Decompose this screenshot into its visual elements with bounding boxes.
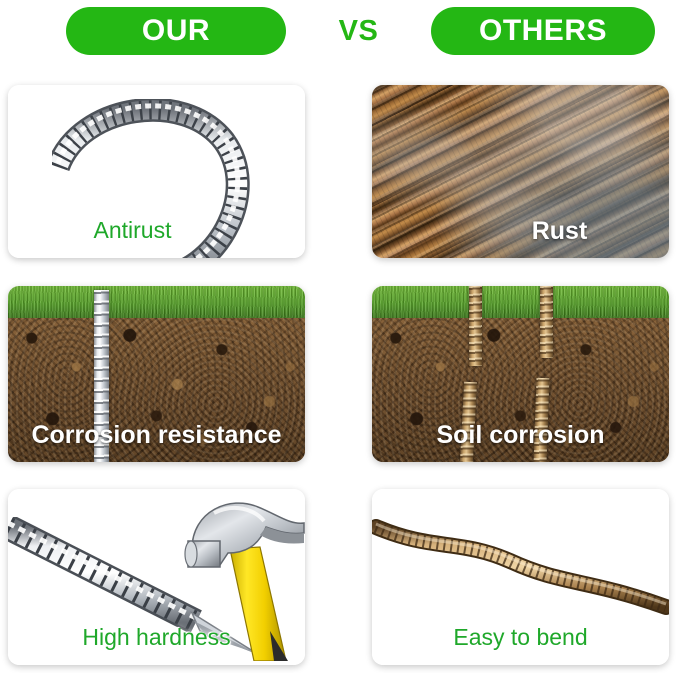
scene-easy-to-bend: Easy to bend: [372, 489, 669, 665]
caption-corrosion-resistance: Corrosion resistance: [8, 421, 305, 450]
caption-soil-corrosion: Soil corrosion: [372, 421, 669, 450]
comparison-header: OUR VS OTHERS: [0, 0, 679, 62]
card-our-corrosion-resistance: Corrosion resistance: [8, 286, 305, 462]
vs-label: VS: [286, 15, 431, 48]
caption-rust: Rust: [450, 217, 669, 246]
card-others-easy-to-bend: Easy to bend: [372, 489, 669, 665]
caption-antirust: Antirust: [8, 217, 305, 244]
grass-layer: [372, 286, 669, 318]
scene-corrosion-resistance: Corrosion resistance: [8, 286, 305, 462]
caption-easy-to-bend: Easy to bend: [372, 624, 669, 651]
rusty-stake-2-upper: [540, 286, 553, 358]
card-our-high-hardness: High hardness: [8, 489, 305, 665]
scene-rust: Rust: [372, 85, 669, 258]
caption-high-hardness: High hardness: [8, 624, 305, 651]
scene-high-hardness: High hardness: [8, 489, 305, 665]
comparison-grid: Antirust Rust Corrosion resistance Soil …: [0, 62, 679, 673]
rusty-stake-1-upper: [469, 286, 482, 366]
others-badge: OTHERS: [431, 7, 655, 55]
grass-layer: [8, 286, 305, 318]
scene-antirust: Antirust: [8, 85, 305, 258]
card-others-soil-corrosion: Soil corrosion: [372, 286, 669, 462]
wavy-rusty-rebar-icon: [372, 499, 669, 629]
our-badge: OUR: [66, 7, 286, 55]
scene-soil-corrosion: Soil corrosion: [372, 286, 669, 462]
card-others-rust: Rust: [372, 85, 669, 258]
card-our-antirust: Antirust: [8, 85, 305, 258]
